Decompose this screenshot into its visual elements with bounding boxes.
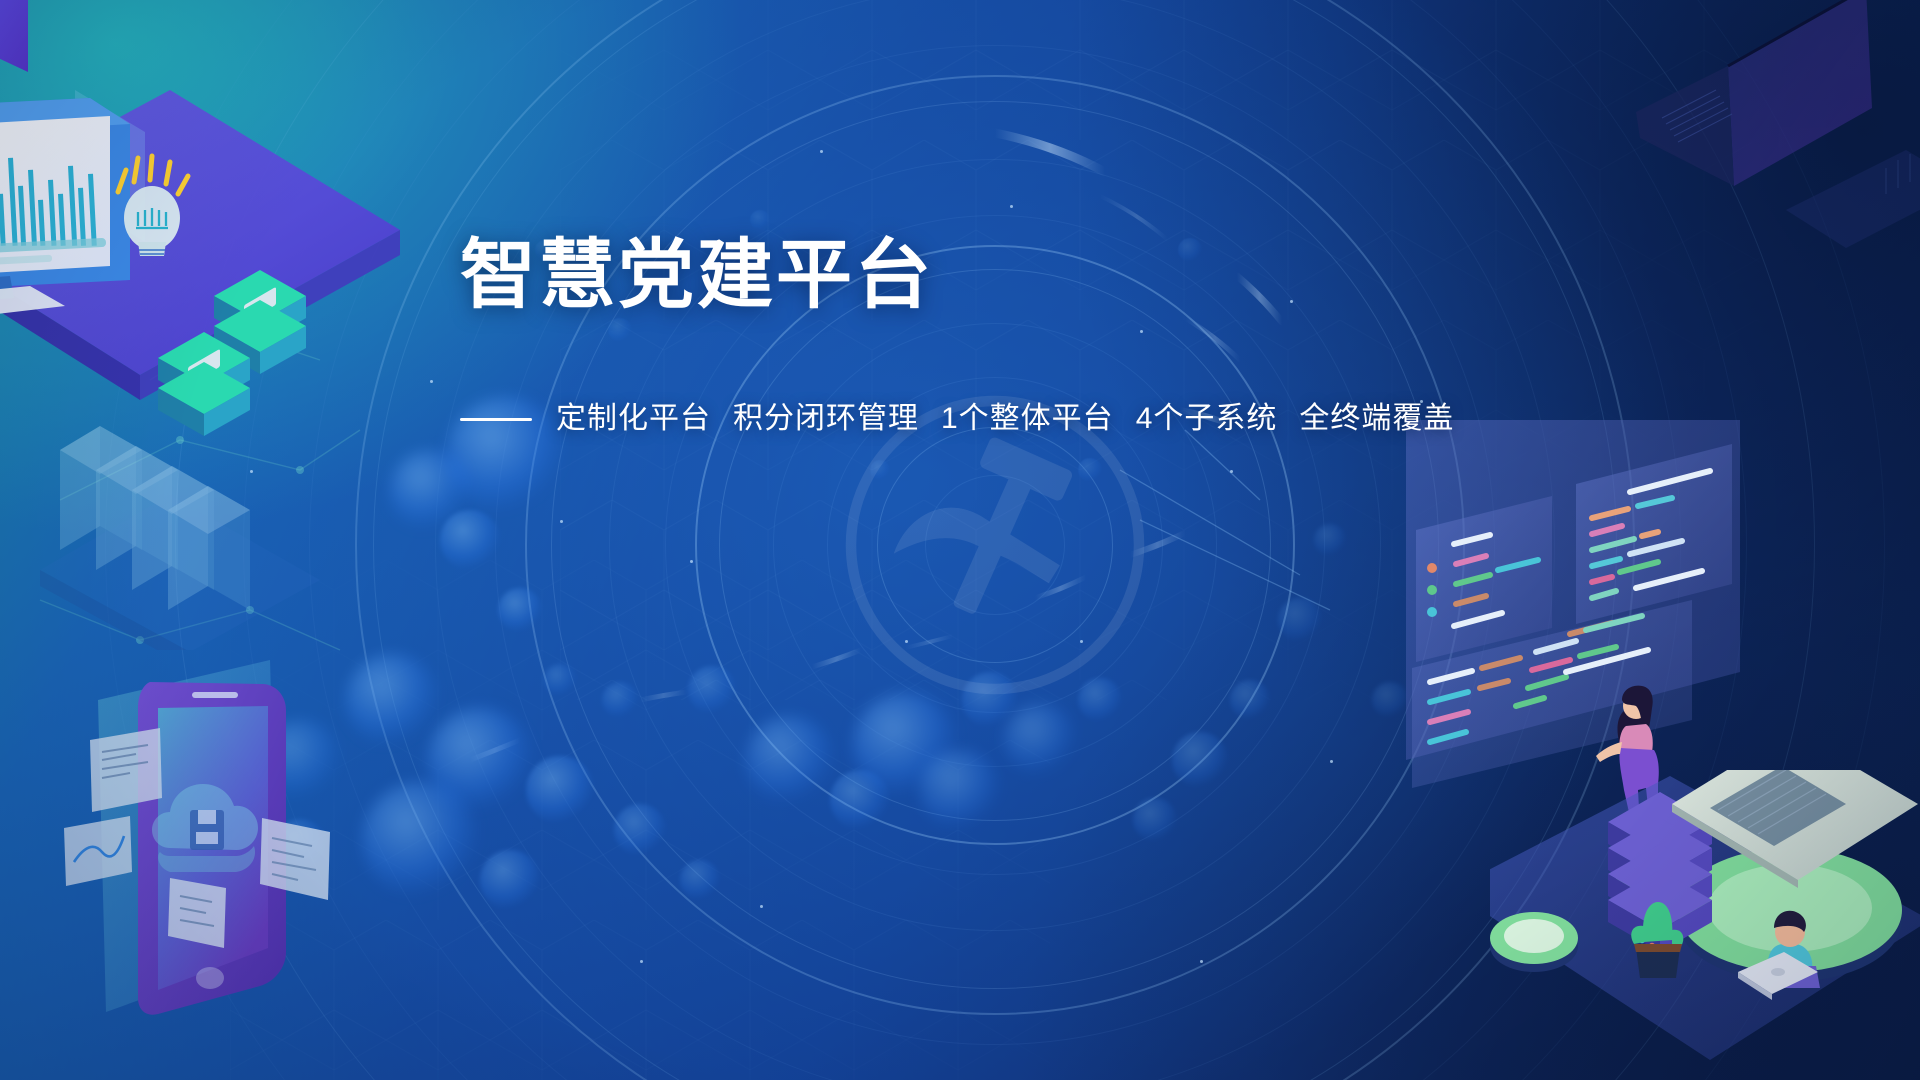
- hero-banner: 智慧党建平台 定制化平台积分闭环管理1个整体平台4个子系统全终端覆盖: [0, 0, 1920, 1080]
- vignette-overlay: [0, 0, 1920, 1080]
